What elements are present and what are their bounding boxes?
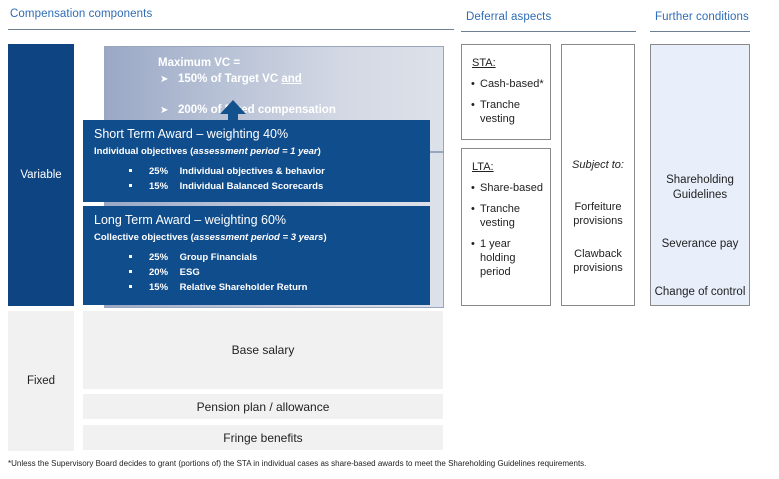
list-item: 25% Group Financials [127, 250, 307, 265]
list-item: 20% ESG [127, 265, 307, 280]
fringe-benefits-label: Fringe benefits [223, 431, 302, 445]
lta-sub-plain: Collective objectives ( [94, 232, 194, 243]
lta-item-1-pct: 20% [149, 265, 177, 280]
spine-fixed-label: Fixed [27, 375, 55, 387]
header-compensation-components: Compensation components [10, 8, 152, 20]
long-term-award-title: Long Term Award – weighting 60% [94, 213, 286, 227]
up-arrow-head [220, 100, 246, 114]
header-rule-further [650, 31, 750, 32]
box-base-salary: Base salary [83, 311, 443, 389]
further-item-change-of-control: Change of control [651, 285, 749, 300]
subject-to-title: Subject to: [562, 159, 634, 171]
sta-sub-italic: assessment period = 1 year [193, 146, 317, 157]
long-term-award-list: 25% Group Financials 20% ESG 15% Relativ… [127, 250, 307, 295]
lta-sub-close: ) [323, 232, 326, 243]
spine-variable: Variable [8, 44, 74, 306]
card-long-term-award: Long Term Award – weighting 60% Collecti… [83, 206, 430, 305]
header-further-conditions: Further conditions [655, 11, 749, 23]
list-item: 15% Relative Shareholder Return [127, 280, 307, 295]
list-item: Tranche vesting [471, 98, 545, 126]
spine-fixed: Fixed [8, 311, 74, 451]
short-term-award-title: Short Term Award – weighting 40% [94, 127, 288, 141]
lta-item-2-label: Relative Shareholder Return [180, 282, 308, 293]
header-rule-compensation [8, 29, 454, 30]
lta-item-0-label: Group Financials [180, 252, 258, 263]
pension-plan-label: Pension plan / allowance [197, 400, 330, 414]
list-item: Tranche vesting [471, 202, 545, 230]
sta-item-1-pct: 15% [149, 179, 177, 194]
header-deferral-aspects: Deferral aspects [466, 11, 551, 23]
sta-sub-close: ) [318, 146, 321, 157]
list-item: 15% Individual Balanced Scorecards [127, 179, 325, 194]
box-deferral-lta: LTA: Share-based Tranche vesting 1 year … [461, 148, 551, 306]
header-rule-deferral [461, 31, 636, 32]
base-salary-label: Base salary [232, 343, 295, 357]
list-item: 25% Individual objectives & behavior [127, 164, 325, 179]
deferral-sta-list: Cash-based* Tranche vesting [471, 77, 545, 133]
subject-to-item-forfeiture: Forfeiture provisions [562, 200, 634, 228]
short-term-award-subtitle: Individual objectives (assessment period… [94, 146, 321, 157]
list-item: 1 year holding period [471, 237, 545, 279]
footnote: *Unless the Supervisory Board decides to… [8, 459, 586, 468]
deferral-sta-heading: STA: [472, 57, 496, 69]
sta-item-0-pct: 25% [149, 164, 177, 179]
box-subject-to: Subject to: Forfeiture provisions Clawba… [561, 44, 635, 306]
deferral-lta-list: Share-based Tranche vesting 1 year holdi… [471, 181, 545, 286]
list-item: Cash-based* [471, 77, 545, 91]
box-pension-plan: Pension plan / allowance [83, 394, 443, 419]
sta-sub-plain: Individual objectives ( [94, 146, 193, 157]
box-deferral-sta: STA: Cash-based* Tranche vesting [461, 44, 551, 140]
deferral-lta-heading: LTA: [472, 161, 494, 173]
lta-item-2-pct: 15% [149, 280, 177, 295]
sta-item-0-label: Individual objectives & behavior [180, 166, 325, 177]
short-term-award-list: 25% Individual objectives & behavior 15%… [127, 164, 325, 194]
sta-item-1-label: Individual Balanced Scorecards [180, 181, 324, 192]
further-item-severance-pay: Severance pay [651, 237, 749, 252]
further-item-shareholding-guidelines: Shareholding Guidelines [651, 173, 749, 203]
subject-to-item-clawback: Clawback provisions [562, 247, 634, 275]
slide-canvas: Compensation components Deferral aspects… [0, 0, 779, 479]
card-short-term-award: Short Term Award – weighting 40% Individ… [83, 120, 430, 202]
box-fringe-benefits: Fringe benefits [83, 425, 443, 450]
spine-variable-label: Variable [20, 169, 61, 181]
list-item: Share-based [471, 181, 545, 195]
box-further-conditions: Shareholding Guidelines Severance pay Ch… [650, 44, 750, 306]
lta-item-1-label: ESG [180, 267, 200, 278]
lta-item-0-pct: 25% [149, 250, 177, 265]
lta-sub-italic: assessment period = 3 years [194, 232, 324, 243]
long-term-award-subtitle: Collective objectives (assessment period… [94, 232, 327, 243]
